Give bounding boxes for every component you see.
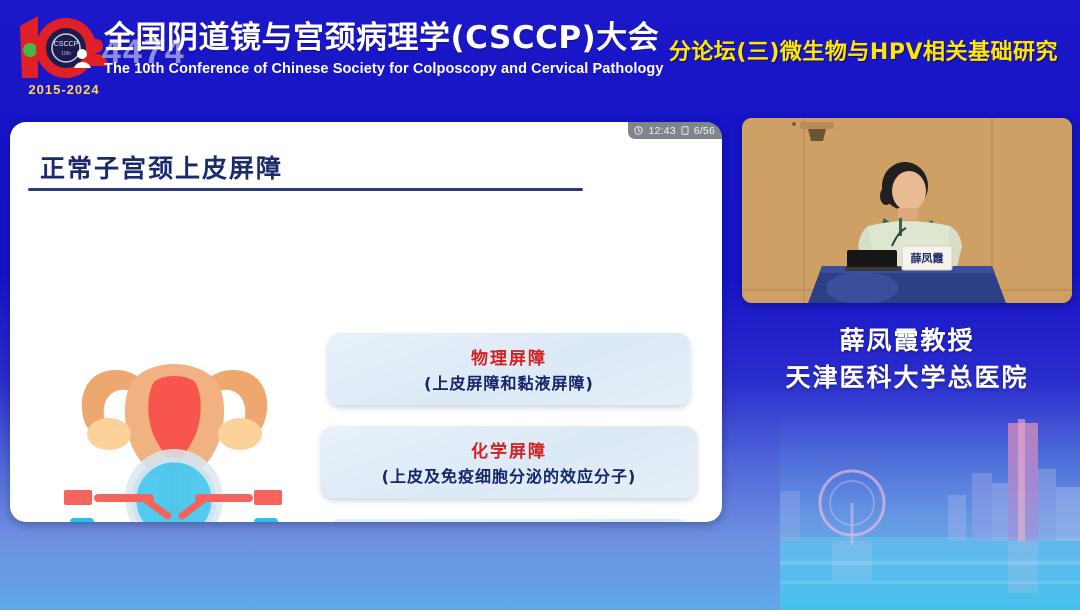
page-counter: 6/56: [694, 125, 715, 137]
barrier-subtext: (上皮屏障和黏液屏障): [424, 370, 594, 394]
barrier-subtext: (上皮及免疫细胞分泌的效应分子): [382, 463, 637, 487]
svg-text:薛凤霞: 薛凤霞: [911, 251, 945, 265]
broadcast-stage: CSCCP 10th 2015-2024 全国阴道镜与宫颈病理学(CSCCP)大…: [0, 0, 1080, 610]
speaker-caption: 薛凤霞教授 天津医科大学总医院: [742, 322, 1072, 396]
speaker-affiliation-line: 天津医科大学总医院: [742, 359, 1072, 396]
speaker-name-line: 薛凤霞教授: [742, 322, 1072, 359]
barrier-heading: 物理屏障: [471, 344, 547, 369]
slide-title: 正常子宫颈上皮屏障: [40, 149, 283, 185]
clock-icon: [634, 126, 643, 135]
conference-title-cn: 全国阴道镜与宫颈病理学(CSCCP)大会: [104, 18, 724, 58]
session-title: 分论坛(三)微生物与HPV相关基础研究: [669, 34, 1058, 66]
barrier-box[interactable]: 物理屏障 (上皮屏障和黏液屏障): [328, 333, 690, 405]
conference-title-block: 全国阴道镜与宫颈病理学(CSCCP)大会 The 10th Conference…: [104, 18, 724, 79]
barrier-box[interactable]: 化学屏障 (上皮及免疫细胞分泌的效应分子): [321, 426, 697, 498]
tianjin-skyline-watermark: [780, 395, 1080, 610]
slide-panel[interactable]: 12:43 6/56 正常子宫颈上皮屏障: [10, 122, 722, 522]
svg-text:CSCCP: CSCCP: [54, 41, 79, 48]
barrier-heading: 化学屏障: [471, 437, 547, 462]
uterus-magnifier-illustration: [62, 330, 287, 522]
conference-title-en: The 10th Conference of Chinese Society f…: [104, 59, 724, 79]
conference-header: CSCCP 10th 2015-2024 全国阴道镜与宫颈病理学(CSCCP)大…: [0, 0, 1080, 110]
barrier-box[interactable]: 免疫屏障 (体液免疫和细胞免疫): [328, 519, 690, 522]
svg-text:2015-2024: 2015-2024: [28, 82, 99, 97]
svg-text:10th: 10th: [61, 51, 71, 57]
slide-status-badge: 12:43 6/56: [628, 122, 722, 139]
speaker-at-podium: 薛凤霞: [742, 118, 1072, 303]
slide-title-underline: [28, 188, 583, 191]
page-icon: [681, 126, 689, 135]
elapsed-time: 12:43: [648, 125, 675, 137]
speaker-video-panel[interactable]: 薛凤霞: [742, 118, 1072, 303]
